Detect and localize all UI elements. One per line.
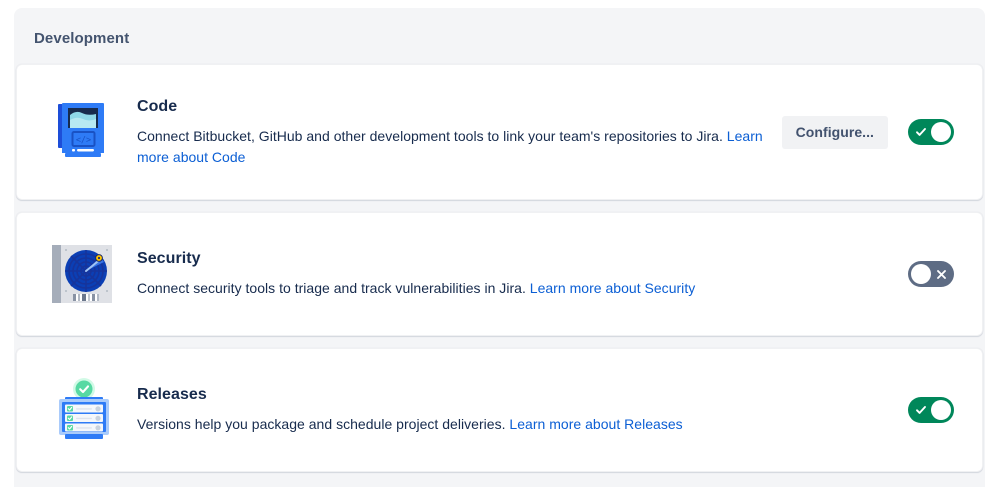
integration-card-code[interactable]: </> Code Connect Bitbucket, GitHub and o… bbox=[16, 64, 983, 200]
releases-versions-icon bbox=[51, 377, 117, 443]
toggle-code[interactable] bbox=[908, 119, 954, 145]
configure-button[interactable]: Configure... bbox=[782, 116, 888, 149]
page-title: Development bbox=[34, 30, 129, 47]
row-title: Code bbox=[137, 97, 772, 117]
toggle-knob bbox=[931, 122, 951, 142]
row-description: Versions help you package and schedule p… bbox=[137, 414, 787, 435]
row-description-text: Connect security tools to triage and tra… bbox=[137, 280, 530, 296]
integration-card-releases[interactable]: Releases Versions help you package and s… bbox=[16, 348, 983, 472]
row-controls: Configure... bbox=[782, 116, 982, 149]
toggle-knob bbox=[931, 400, 951, 420]
toggle-releases[interactable] bbox=[908, 397, 954, 423]
integration-card-security[interactable]: Security Connect security tools to triag… bbox=[16, 212, 983, 336]
row-description: Connect Bitbucket, GitHub and other deve… bbox=[137, 126, 772, 168]
svg-text:</>: </> bbox=[76, 135, 91, 145]
icon-container: </> bbox=[17, 99, 137, 165]
security-radar-icon bbox=[51, 241, 117, 307]
row-description-text: Versions help you package and schedule p… bbox=[137, 416, 509, 432]
toggle-knob bbox=[911, 264, 931, 284]
check-icon bbox=[910, 119, 932, 145]
icon-container bbox=[17, 377, 137, 443]
row-text: Releases Versions help you package and s… bbox=[137, 385, 797, 435]
code-repository-icon: </> bbox=[51, 99, 117, 165]
row-text: Security Connect security tools to triag… bbox=[137, 249, 797, 299]
row-title: Security bbox=[137, 249, 787, 269]
toggle-security[interactable] bbox=[908, 261, 954, 287]
check-icon bbox=[910, 397, 932, 423]
row-description: Connect security tools to triage and tra… bbox=[137, 278, 787, 299]
section-header: Development bbox=[14, 8, 985, 56]
row-controls bbox=[908, 261, 982, 287]
learn-more-link[interactable]: Learn more about Releases bbox=[509, 416, 682, 432]
cross-icon bbox=[930, 261, 952, 287]
row-text: Code Connect Bitbucket, GitHub and other… bbox=[137, 97, 782, 168]
row-title: Releases bbox=[137, 385, 787, 405]
learn-more-link[interactable]: Learn more about Security bbox=[530, 280, 695, 296]
row-description-text: Connect Bitbucket, GitHub and other deve… bbox=[137, 128, 727, 144]
row-controls bbox=[908, 397, 982, 423]
icon-container bbox=[17, 241, 137, 307]
development-section: Development bbox=[14, 8, 985, 487]
